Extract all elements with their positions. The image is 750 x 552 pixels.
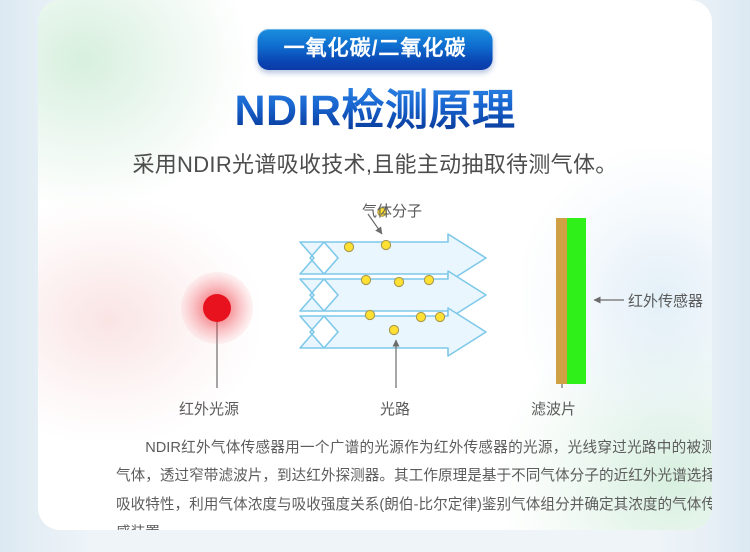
ir-light-source-core <box>203 294 231 322</box>
description-paragraph: NDIR红外气体传感器用一个广谱的光源作为红外传感器的光源，光线穿过光路中的被测… <box>116 434 712 530</box>
label-light-path: 光路 <box>380 398 410 419</box>
label-gas-molecule: 气体分子 <box>362 200 422 221</box>
beam-arrow-1 <box>300 234 486 282</box>
gas-molecule <box>435 312 444 321</box>
beam-arrow-2 <box>300 271 486 319</box>
page-title: NDIR检测原理 <box>38 88 712 134</box>
category-badge: 一氧化碳/二氧化碳 <box>258 29 493 70</box>
gas-molecule <box>424 275 433 284</box>
gas-molecule <box>365 310 374 319</box>
filter-plate-bar <box>556 218 567 384</box>
label-ir-sensor: 红外传感器 <box>628 290 703 311</box>
ir-sensor-bar <box>567 218 586 384</box>
gas-molecule <box>381 240 390 249</box>
gas-molecule <box>394 277 403 286</box>
ir-light-source-glow <box>181 272 253 344</box>
ndir-principle-diagram <box>38 190 712 430</box>
light-path-beams <box>300 234 486 356</box>
label-light-source: 红外光源 <box>179 398 239 419</box>
content-card: 一氧化碳/二氧化碳 NDIR检测原理 采用NDIR光谱吸收技术,且能主动抽取待测… <box>38 0 712 530</box>
gas-molecule <box>389 325 398 334</box>
label-filter-plate: 滤波片 <box>531 398 576 419</box>
gas-molecule <box>344 242 353 251</box>
gas-molecule <box>416 312 425 321</box>
page-subtitle: 采用NDIR光谱吸收技术,且能主动抽取待测气体。 <box>38 147 712 179</box>
gas-molecule <box>361 275 370 284</box>
